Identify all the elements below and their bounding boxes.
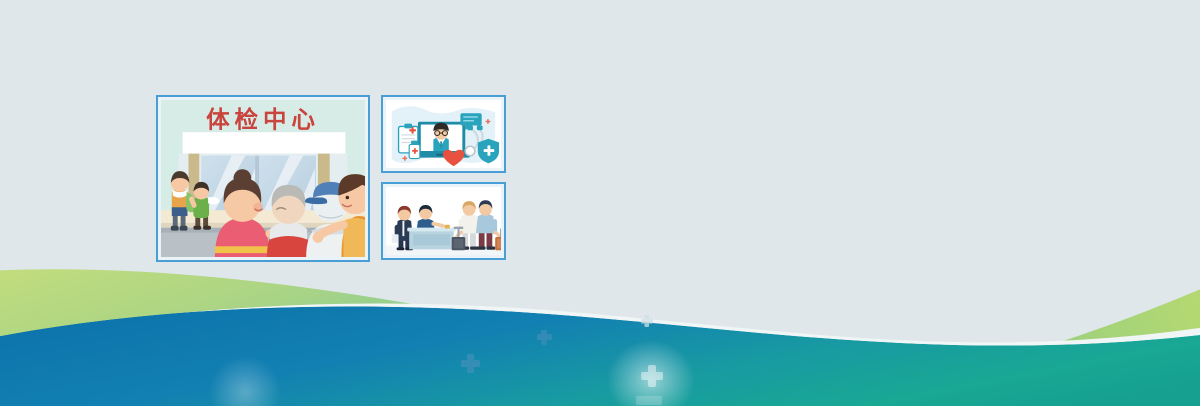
gallery-item-exam-center[interactable]: 体检中心 bbox=[156, 95, 370, 262]
reception-desk-illustration bbox=[386, 187, 501, 255]
gallery-item-telemedicine[interactable] bbox=[381, 95, 506, 173]
telemedicine-illustration bbox=[386, 100, 501, 168]
signboard-banner bbox=[183, 132, 346, 153]
signboard-title: 体检中心 bbox=[206, 105, 320, 133]
glow-bar bbox=[636, 396, 662, 405]
svg-text:体检中心: 体检中心 bbox=[206, 105, 320, 133]
exam-center-illustration: 体检中心 bbox=[161, 100, 365, 257]
page-stage: 体检中心 bbox=[0, 0, 1200, 406]
gallery-side-column bbox=[381, 95, 506, 260]
gallery-item-reception-desk[interactable] bbox=[381, 182, 506, 260]
reception-counter bbox=[407, 225, 455, 250]
image-gallery: 体检中心 bbox=[156, 95, 506, 262]
